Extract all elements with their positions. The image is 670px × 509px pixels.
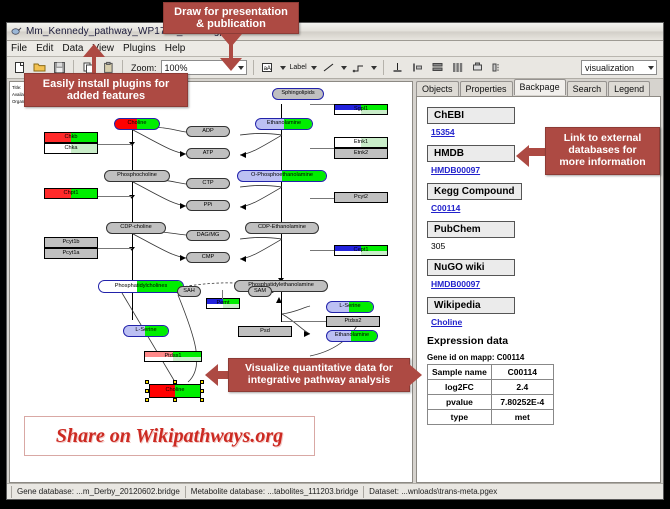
line-icon[interactable]: [321, 60, 337, 76]
db-value-pubchem: 305: [431, 241, 650, 251]
chevron-down-icon[interactable]: [341, 66, 347, 70]
chevron-down-icon[interactable]: [311, 66, 317, 70]
db-link-wikipedia[interactable]: Choline: [431, 317, 650, 327]
node-label: L-Serine: [339, 304, 360, 310]
node-label: CMP: [202, 255, 214, 261]
table-cell-key: pvalue: [428, 395, 492, 410]
pathvisio-icon: [11, 26, 22, 37]
node-label: Etnk2: [354, 151, 368, 157]
chevron-down-icon: [648, 66, 654, 70]
gene-chka[interactable]: Chka: [44, 143, 98, 154]
node-label: SAM: [254, 289, 266, 295]
edge-pcyt2-reaction: [310, 198, 334, 199]
db-header-wikipedia: Wikipedia: [427, 297, 515, 314]
table-cell-value: 7.80252E-4: [491, 395, 553, 410]
window-titlebar: Mm_Kennedy_pathway_WP1771_45176.gpml: [7, 23, 663, 41]
node-label: ATP: [203, 151, 213, 157]
callout-draw-for-publication: Draw for presentation& publication: [163, 2, 299, 34]
node-ethanolamine-top[interactable]: Ethanolamine: [255, 118, 313, 130]
db-header-pubchem: PubChem: [427, 221, 515, 238]
node-label: Chka: [64, 146, 77, 152]
edge-ptdss2-reaction: [282, 321, 326, 322]
gene-sgpl1[interactable]: Sgpl1: [334, 104, 388, 115]
db-header-nugo: NuGO wiki: [427, 259, 515, 276]
edge-chkb-reaction: [98, 144, 132, 145]
panel-tabs: Objects Properties Backpage Search Legen…: [416, 81, 661, 96]
node-choline-selected[interactable]: Choline: [149, 384, 201, 398]
zoom-value: 100%: [165, 63, 188, 73]
node-label: Chpt1: [64, 191, 79, 197]
resize-handle[interactable]: [145, 380, 149, 384]
node-label: Ethanolamine: [267, 121, 301, 127]
menu-plugins[interactable]: Plugins: [123, 43, 156, 54]
node-label: ADP: [202, 129, 214, 135]
node-label: Ptdss2: [344, 319, 361, 325]
gene-pcyt1b[interactable]: Pcyt1b: [44, 237, 98, 248]
table-cell-key: Sample name: [428, 365, 492, 380]
share-banner-text: Share on Wikipathways.org: [56, 425, 283, 448]
node-ophosphoethanolamine[interactable]: O-Phosphoethanolamine: [237, 170, 327, 182]
same-width-icon[interactable]: [450, 60, 466, 76]
node-label: Chkb: [64, 135, 77, 141]
node-label: SAH: [183, 289, 195, 295]
resize-handle[interactable]: [200, 389, 204, 393]
node-label: Etnk1: [354, 140, 368, 146]
node-l-serine-right[interactable]: L-Serine: [326, 301, 374, 313]
table-row: Sample name C00114: [428, 365, 554, 380]
distribute-icon[interactable]: [430, 60, 446, 76]
resize-handle[interactable]: [145, 389, 149, 393]
db-header-chebi: ChEBI: [427, 107, 515, 124]
node-label: Pemt: [216, 301, 229, 307]
node-label: PPi: [204, 203, 213, 209]
tab-search[interactable]: Search: [567, 81, 608, 96]
table-row: type met: [428, 410, 554, 425]
node-l-serine-left[interactable]: L-Serine: [123, 325, 169, 337]
node-label: Choline: [166, 388, 185, 394]
edge-sgpl1-reaction: [310, 104, 334, 105]
db-header-kegg: Kegg Compound: [427, 183, 522, 200]
callout-pointer-down-icon: [220, 34, 242, 47]
edge-etnk-reaction: [310, 148, 334, 149]
gene-chpt1[interactable]: Chpt1: [44, 188, 98, 199]
node-ctp[interactable]: CTP: [186, 178, 230, 189]
node-label: CTP: [202, 181, 213, 187]
node-label: O-Phosphoethanolamine: [251, 173, 313, 179]
node-label: Cept1: [354, 248, 369, 254]
node-sphingolipids[interactable]: Sphingolipids: [272, 88, 324, 100]
menu-data[interactable]: Data: [62, 43, 83, 54]
zoom-label: Zoom:: [131, 63, 157, 73]
node-phosphocholine[interactable]: Phosphocholine: [104, 170, 170, 182]
node-label: Phosphatidylcholines: [115, 284, 168, 290]
node-label: Psd: [260, 329, 270, 335]
canvas-info-title: Title:: [12, 85, 21, 90]
node-phosphatidylcholines[interactable]: Phosphatidylcholines: [98, 280, 184, 293]
callout-pointer-right-icon: [409, 364, 422, 386]
tab-legend[interactable]: Legend: [608, 81, 650, 96]
tab-objects[interactable]: Objects: [416, 81, 459, 96]
gene-pcyt2[interactable]: Pcyt2: [334, 192, 388, 203]
menu-help[interactable]: Help: [165, 43, 186, 54]
table-cell-value: C00114: [491, 365, 553, 380]
node-adp[interactable]: ADP: [186, 126, 230, 137]
tab-backpage[interactable]: Backpage: [514, 79, 566, 95]
db-link-nugo[interactable]: HMDB00097: [431, 279, 650, 289]
node-label: Ptdss1: [164, 354, 181, 360]
toolbar-separator: [383, 60, 384, 75]
share-banner: Share on Wikipathways.org: [24, 416, 315, 456]
node-sah[interactable]: SAH: [177, 286, 201, 297]
gene-etnk2[interactable]: Etnk2: [334, 148, 388, 159]
expression-data-title: Expression data: [427, 335, 650, 347]
edge-cept1-reaction: [310, 250, 334, 251]
callout-pointer-left-icon: [516, 145, 529, 167]
db-header-hmdb: HMDB: [427, 145, 515, 162]
menubar: File Edit Data View Plugins Help: [7, 41, 663, 57]
resize-handle[interactable]: [200, 398, 204, 402]
gene-id-line: Gene id on mapp: C00114: [427, 353, 650, 362]
table-cell-value: 2.4: [491, 380, 553, 395]
table-cell-key: log2FC: [428, 380, 492, 395]
ungroup-icon[interactable]: [490, 60, 506, 76]
gene-ptdss1[interactable]: Ptdss1: [144, 351, 202, 362]
edge-pcyt1-reaction: [98, 248, 132, 249]
node-cdp-choline[interactable]: CDP-choline: [106, 222, 166, 234]
visualization-combobox[interactable]: visualization: [581, 60, 657, 75]
visualization-value: visualization: [585, 63, 634, 73]
resize-handle[interactable]: [173, 380, 177, 384]
node-cdp-ethanolamine[interactable]: CDP-Ethanolamine: [245, 222, 319, 234]
group-icon[interactable]: [470, 60, 486, 76]
node-choline-top[interactable]: Choline: [114, 118, 160, 130]
status-metabolite-database: Metabolite database: ...tabolites_111203…: [185, 486, 363, 498]
svg-text:aA: aA: [264, 66, 271, 72]
node-label: CDP-Ethanolamine: [258, 225, 306, 231]
node-label: Pcyt2: [354, 195, 368, 201]
tab-properties[interactable]: Properties: [460, 81, 513, 96]
table-cell-value: met: [491, 410, 553, 425]
resize-handle[interactable]: [173, 398, 177, 402]
callout-pointer-up-icon: [83, 44, 105, 57]
status-gene-database: Gene database: ...m_Derby_20120602.bridg…: [11, 486, 185, 498]
align-top-icon[interactable]: [390, 60, 406, 76]
gene-psd[interactable]: Psd: [238, 326, 292, 337]
resize-handle[interactable]: [200, 380, 204, 384]
db-link-kegg[interactable]: C00114: [431, 203, 650, 213]
canvas-info-availability: Availa: [12, 92, 24, 97]
text-format-icon[interactable]: aA: [260, 60, 276, 76]
connector-icon[interactable]: [351, 60, 367, 76]
expression-table: Sample name C00114 log2FC 2.4 pvalue 7.8…: [427, 364, 554, 425]
table-cell-key: type: [428, 410, 492, 425]
node-label: CDP-choline: [120, 225, 151, 231]
status-dataset: Dataset: ...wnloads\trans-meta.pgex: [363, 486, 502, 498]
align-left-icon[interactable]: [410, 60, 426, 76]
table-row: log2FC 2.4: [428, 380, 554, 395]
chevron-down-icon[interactable]: [371, 66, 377, 70]
statusbar: Gene database: ...m_Derby_20120602.bridg…: [7, 483, 663, 499]
gene-pemt[interactable]: Pemt: [206, 298, 240, 309]
callout-visualize-quantitative-data: Visualize quantitative data forintegrati…: [228, 358, 410, 392]
node-dag-mag[interactable]: DAG/MG: [186, 230, 230, 241]
node-label: Ethanolamine: [335, 333, 369, 339]
menu-file[interactable]: File: [11, 43, 27, 54]
edge-pemt-reaction: [222, 290, 223, 299]
chevron-down-icon[interactable]: [280, 66, 286, 70]
gene-cept1[interactable]: Cept1: [334, 245, 388, 256]
canvas-info-organism: Organ: [12, 99, 24, 104]
node-label: Choline: [128, 121, 147, 127]
node-label: Pcyt1b: [62, 240, 79, 246]
callout-stem: [527, 148, 547, 156]
callout-easily-install-plugins: Easily install plugins foradded features: [24, 73, 188, 107]
node-label: Sphingolipids: [281, 91, 314, 97]
callout-pointer-left-icon: [205, 364, 218, 386]
gene-ptdss2[interactable]: Ptdss2: [326, 316, 380, 327]
node-label: Sgpl1: [354, 107, 368, 113]
menu-edit[interactable]: Edit: [36, 43, 53, 54]
node-label: Pcyt1a: [62, 251, 79, 257]
gene-etnk1[interactable]: Etnk1: [334, 137, 388, 148]
toolbar-separator: [253, 60, 254, 75]
node-label: DAG/MG: [197, 233, 220, 239]
resize-handle[interactable]: [145, 398, 149, 402]
node-label: Phosphocholine: [117, 173, 157, 179]
node-ethanolamine-bottom[interactable]: Ethanolamine: [326, 330, 378, 342]
node-cmp[interactable]: CMP: [186, 252, 230, 263]
node-label: L-Serine: [135, 328, 156, 334]
table-row: pvalue 7.80252E-4: [428, 395, 554, 410]
node-ppi[interactable]: PPi: [186, 200, 230, 211]
gene-chkb[interactable]: Chkb: [44, 132, 98, 143]
gene-pcyt1a[interactable]: Pcyt1a: [44, 248, 98, 259]
node-atp[interactable]: ATP: [186, 148, 230, 159]
callout-link-to-external-databases: Link to externaldatabases formore inform…: [545, 127, 660, 175]
label-button[interactable]: Label: [290, 64, 307, 71]
callout-pointer-down-icon: [220, 58, 242, 71]
edge-chpt1-reaction: [98, 196, 132, 197]
